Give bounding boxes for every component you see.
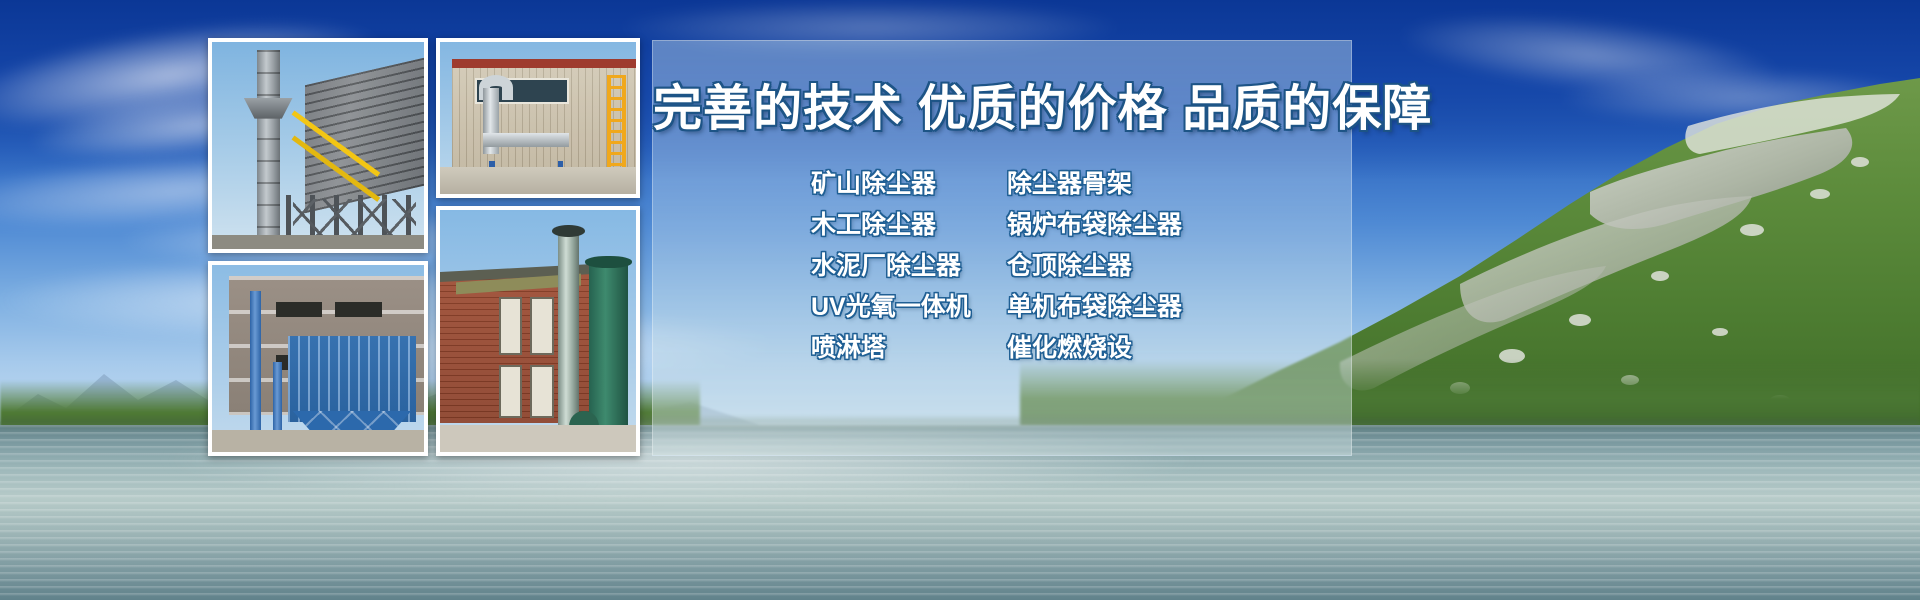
product-name-left[interactable]: UV光氧一体机	[811, 287, 1007, 323]
photo-workshop-ducting[interactable]	[436, 38, 640, 198]
headline: 完善的技术 优质的价格 品质的保障	[653, 69, 1351, 140]
photo-mine-dust-collector[interactable]	[208, 38, 428, 253]
product-row: 水泥厂除尘器 仓顶除尘器	[811, 243, 1351, 284]
product-name-left[interactable]: 水泥厂除尘器	[811, 246, 1007, 282]
product-list: 矿山除尘器 除尘器骨架 木工除尘器 锅炉布袋除尘器 水泥厂除尘器 仓顶除尘器 U…	[811, 161, 1351, 366]
product-name-right[interactable]: 单机布袋除尘器	[1007, 287, 1182, 323]
product-row: 木工除尘器 锅炉布袋除尘器	[811, 202, 1351, 243]
product-name-right[interactable]: 仓顶除尘器	[1007, 246, 1132, 282]
product-row: UV光氧一体机 单机布袋除尘器	[811, 284, 1351, 325]
product-name-right[interactable]: 锅炉布袋除尘器	[1007, 205, 1182, 241]
product-row: 喷淋塔 催化燃烧设	[811, 325, 1351, 366]
product-name-right[interactable]: 除尘器骨架	[1007, 164, 1132, 200]
product-row: 矿山除尘器 除尘器骨架	[811, 161, 1351, 202]
product-name-right[interactable]: 催化燃烧设	[1007, 328, 1132, 364]
promo-banner: 完善的技术 优质的价格 品质的保障 矿山除尘器 除尘器骨架 木工除尘器 锅炉布袋…	[0, 0, 1920, 600]
product-name-left[interactable]: 喷淋塔	[811, 328, 1007, 364]
product-name-left[interactable]: 矿山除尘器	[811, 164, 1007, 200]
photo-brick-plant-stack[interactable]	[436, 206, 640, 456]
photo-collage	[208, 38, 640, 456]
photo-blue-baghouse[interactable]	[208, 261, 428, 456]
text-panel: 完善的技术 优质的价格 品质的保障 矿山除尘器 除尘器骨架 木工除尘器 锅炉布袋…	[652, 40, 1352, 456]
product-name-left[interactable]: 木工除尘器	[811, 205, 1007, 241]
